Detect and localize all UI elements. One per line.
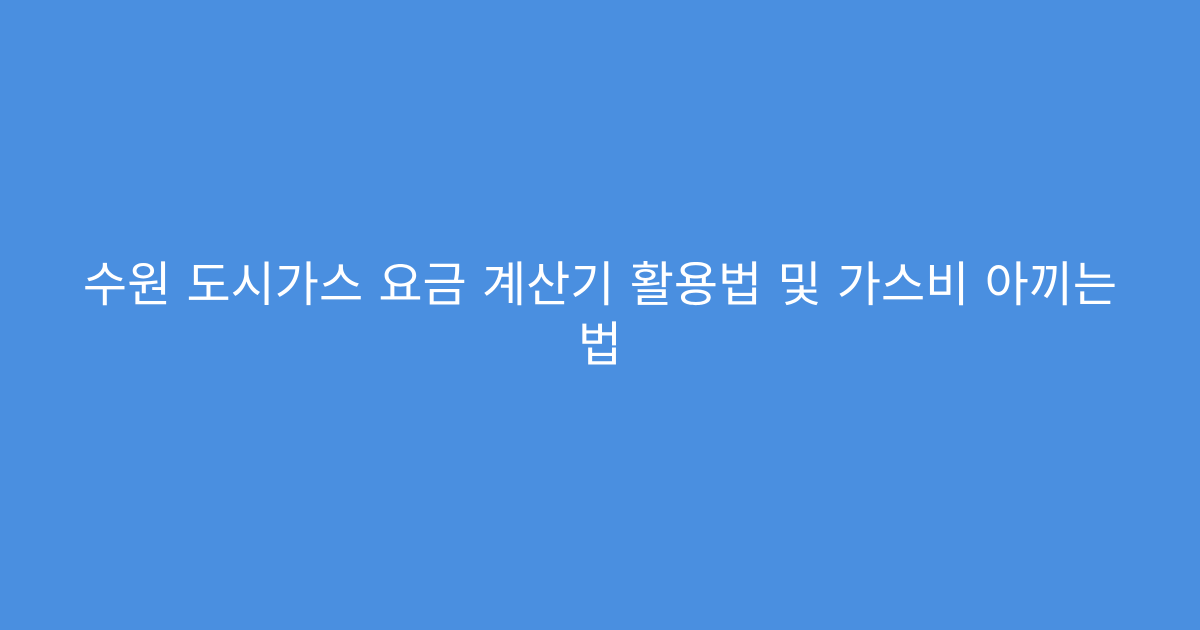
og-card-canvas: 수원 도시가스 요금 계산기 활용법 및 가스비 아끼는 법 [0,0,1200,630]
page-title: 수원 도시가스 요금 계산기 활용법 및 가스비 아끼는 법 [60,255,1140,375]
title-block: 수원 도시가스 요금 계산기 활용법 및 가스비 아끼는 법 [0,255,1200,375]
